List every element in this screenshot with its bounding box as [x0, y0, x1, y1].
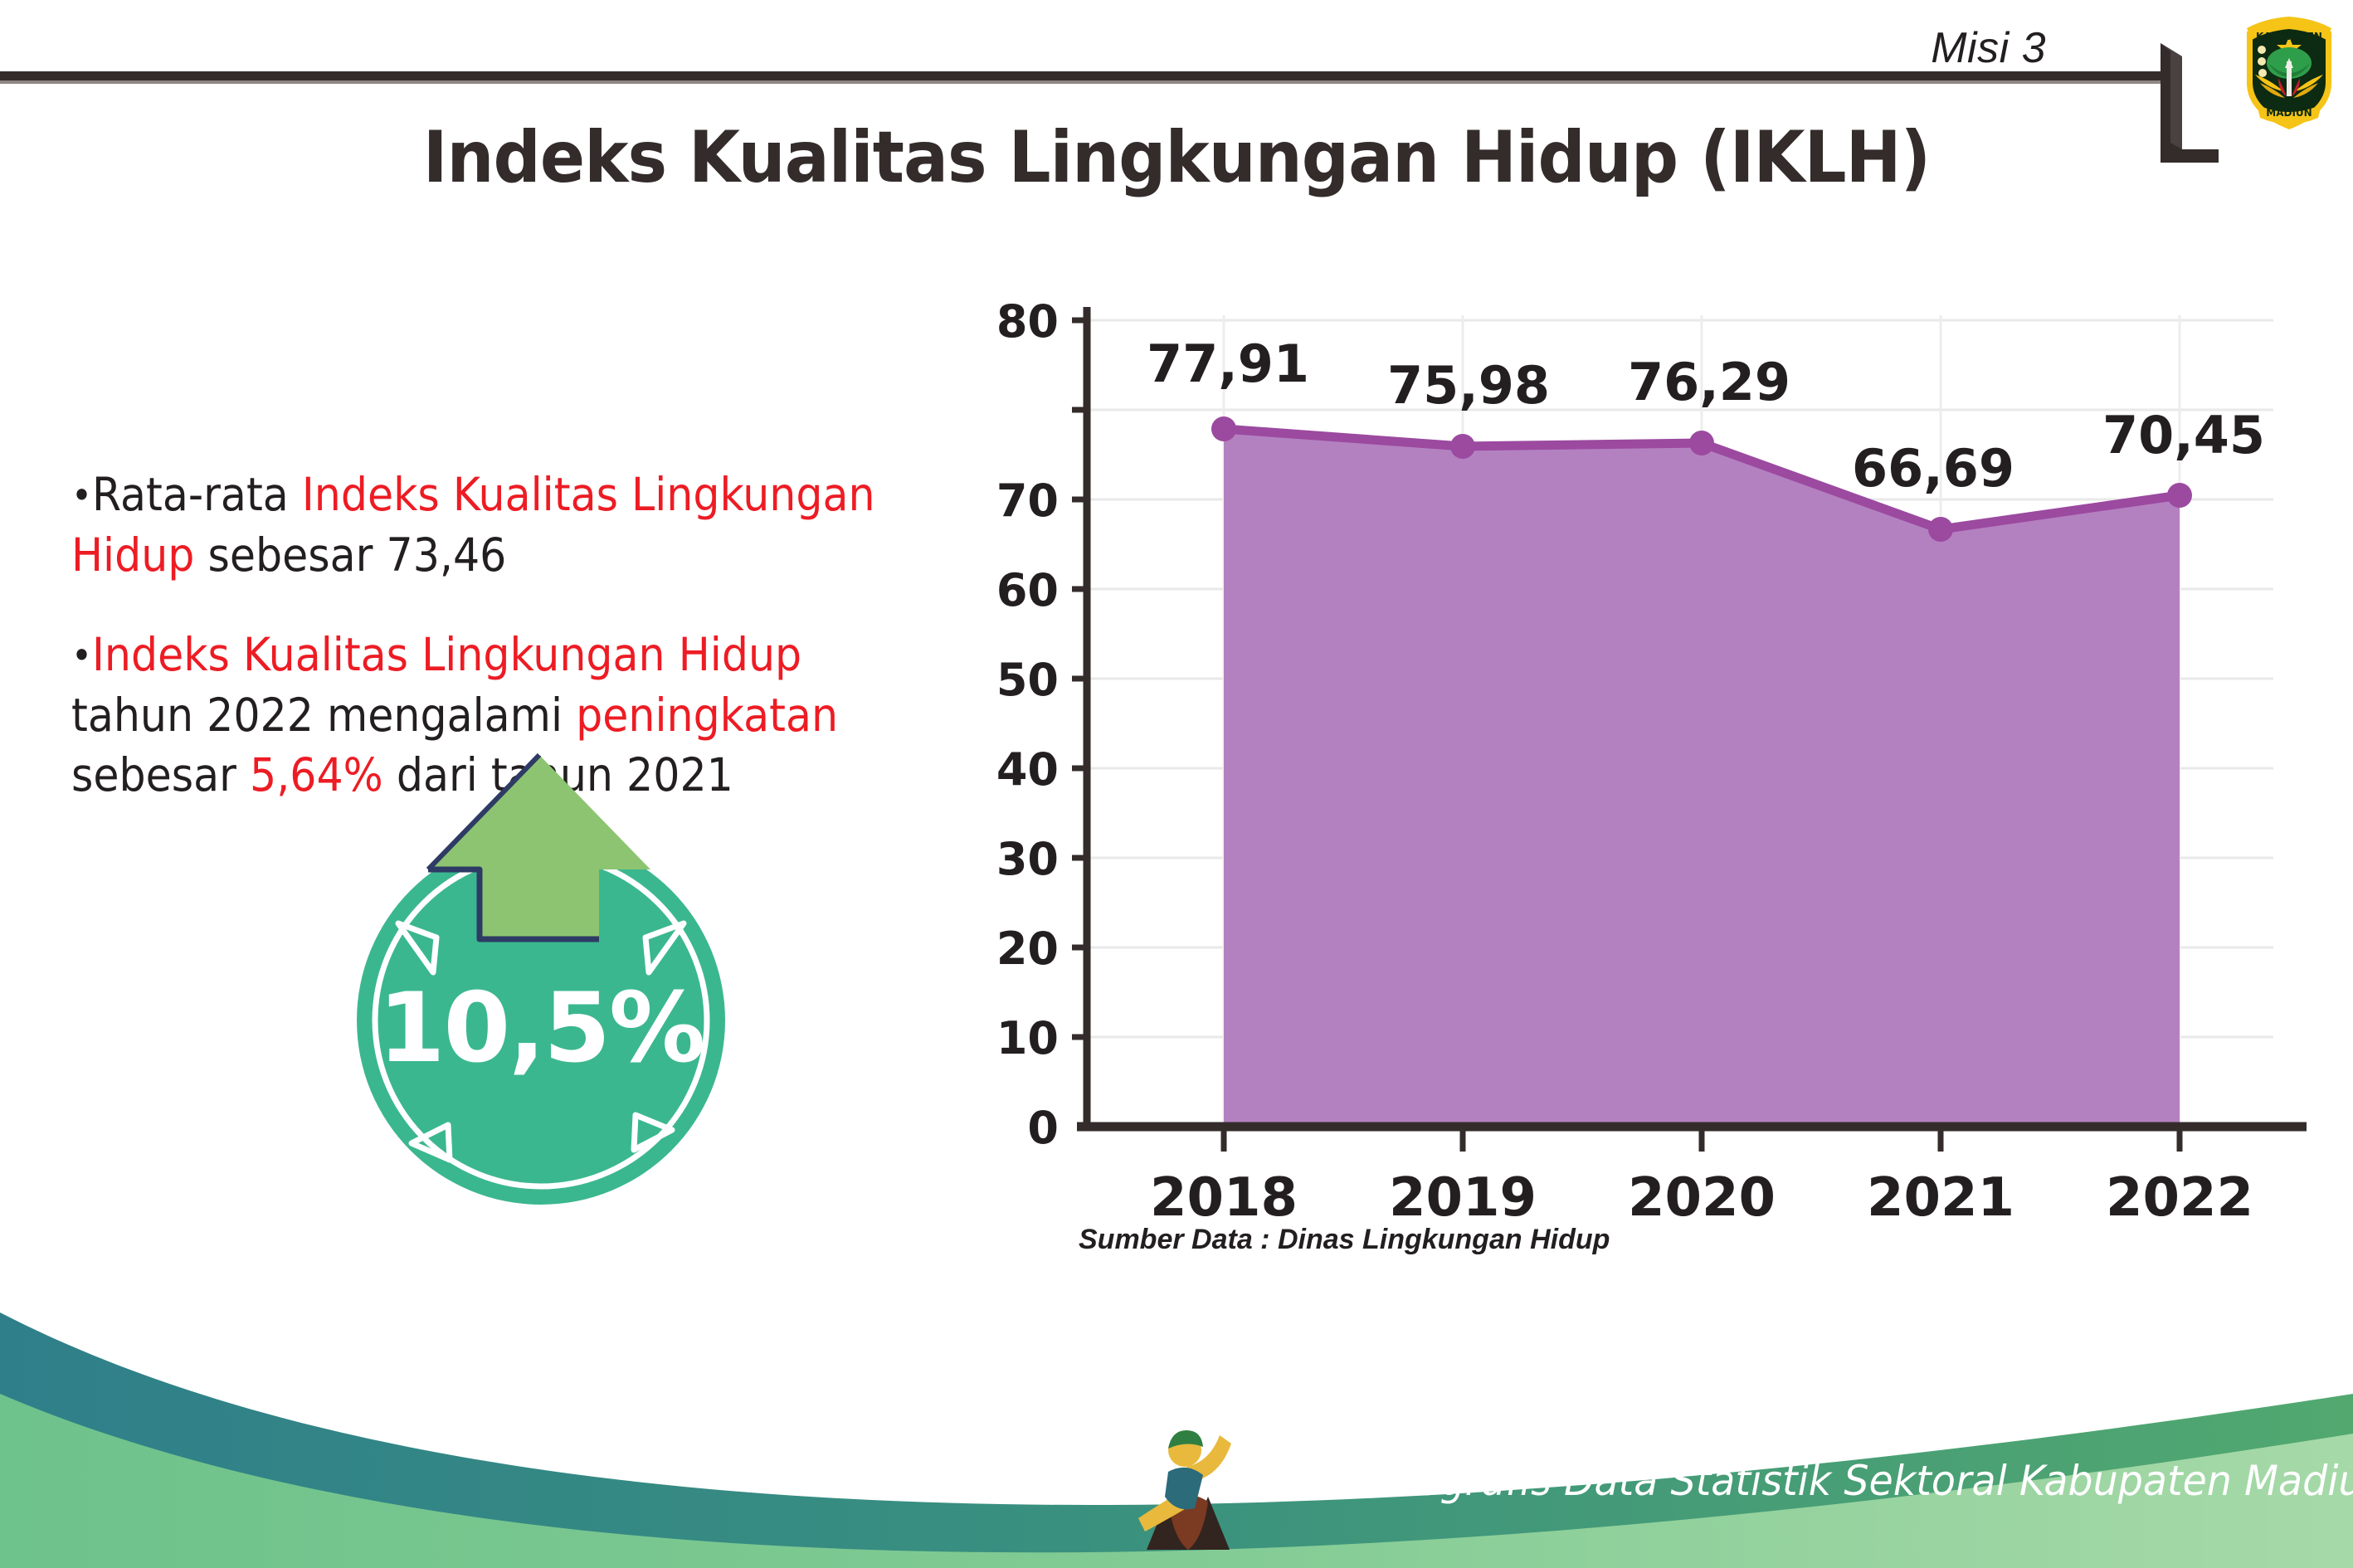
svg-text:40: 40 [996, 743, 1059, 796]
svg-text:MADIUN: MADIUN [2266, 107, 2312, 119]
bullet-2-seg-3: peningkatan [576, 689, 838, 742]
svg-text:50: 50 [996, 654, 1059, 706]
page-title: Indeks Kualitas Lingkungan Hidup (IKLH) [82, 116, 2270, 199]
bullet-item-1: •Rata-rata Indeks Kualitas Lingkungan Hi… [71, 465, 926, 585]
infographic-slide: Misi 3 KABUPATEN MADIUN Indeks K [0, 0, 2353, 1568]
bullet-1-seg-1: Rata-rata [92, 468, 302, 521]
svg-text:20: 20 [996, 923, 1059, 975]
bullet-2-seg-1: Indeks Kualitas Lingkungan Hidup [92, 628, 801, 681]
increase-badge: 10,5% [325, 747, 757, 1211]
bullet-marker: • [71, 473, 92, 518]
x-tick-labels: 2018 2019 2020 2021 2022 [1150, 1167, 2253, 1229]
bullet-2-seg-4: sebesar [71, 748, 250, 801]
svg-text:70,45: 70,45 [2102, 405, 2265, 465]
header-rule [0, 71, 2161, 80]
iklh-area-chart: 0 10 20 30 40 50 60 70 80 2018 2019 2020… [979, 299, 2307, 1278]
svg-text:2021: 2021 [1867, 1167, 2014, 1229]
badge-value: 10,5% [325, 972, 757, 1084]
footer-text: Media Infografis Data Statistik Sektoral… [1235, 1457, 2353, 1505]
svg-text:30: 30 [996, 833, 1059, 885]
footer-banner: Media Infografis Data Statistik Sektoral… [0, 1294, 2353, 1568]
svg-text:0: 0 [1027, 1102, 1059, 1154]
svg-text:10: 10 [996, 1012, 1059, 1064]
svg-text:77,91: 77,91 [1147, 334, 1309, 394]
svg-text:2019: 2019 [1389, 1167, 1537, 1229]
svg-text:80: 80 [996, 299, 1059, 348]
svg-text:76,29: 76,29 [1628, 352, 1790, 412]
chart-canvas: 0 10 20 30 40 50 60 70 80 2018 2019 2020… [979, 299, 2307, 1278]
area-fill [1224, 429, 2180, 1127]
svg-text:2020: 2020 [1628, 1167, 1776, 1229]
bullet-marker: • [71, 633, 92, 678]
bullet-1-seg-3: sebesar 73,46 [194, 528, 506, 582]
svg-text:75,98: 75,98 [1387, 355, 1550, 416]
svg-text:KABUPATEN: KABUPATEN [2256, 31, 2322, 42]
svg-text:66,69: 66,69 [1852, 438, 2014, 499]
y-tick-labels: 0 10 20 30 40 50 60 70 80 [996, 299, 1059, 1154]
svg-text:60: 60 [996, 564, 1059, 616]
svg-text:2018: 2018 [1150, 1167, 1298, 1229]
svg-text:2022: 2022 [2106, 1167, 2253, 1229]
svg-text:70: 70 [996, 475, 1059, 527]
source-note: Sumber Data : Dinas Lingkungan Hidup [1079, 1224, 1610, 1256]
media-infografis-logo-icon [1138, 1425, 1236, 1550]
mission-label: Misi 3 [1931, 23, 2046, 73]
bullet-2-seg-2: tahun 2022 mengalami [71, 689, 576, 742]
